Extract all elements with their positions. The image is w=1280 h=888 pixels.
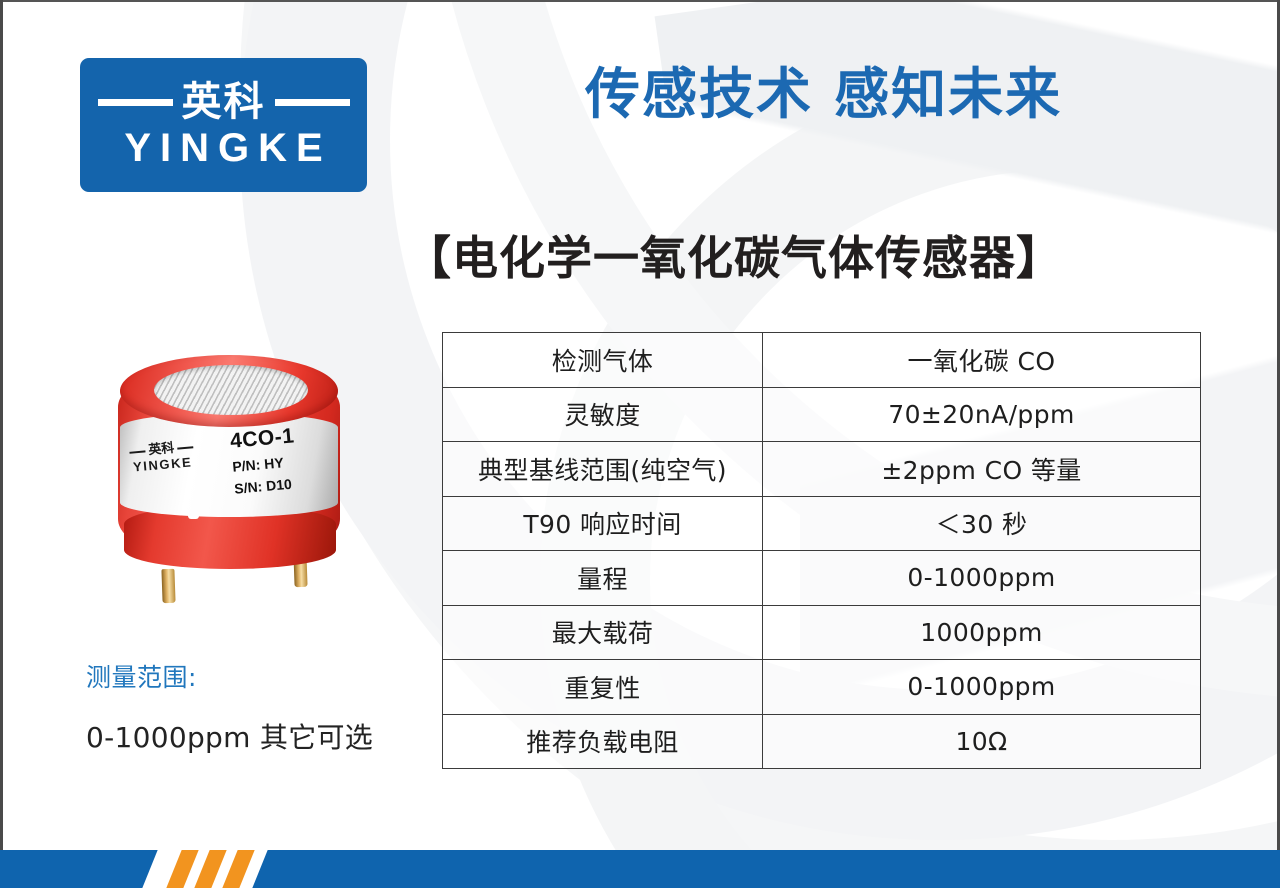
sensor-label-logo: 英科 YINGKE xyxy=(129,440,195,473)
sensor-label-band: 英科 YINGKE 4CO-1 P/N: HY S/N: D10 xyxy=(120,413,338,517)
spec-value: 70±20nA/ppm xyxy=(763,387,1201,442)
footer-stripe xyxy=(194,850,226,888)
footer-bar xyxy=(0,850,1280,888)
sensor-label-chinese-name: 英科 xyxy=(148,442,175,457)
spec-name: 检测气体 xyxy=(443,333,763,388)
table-row: 最大载荷 1000ppm xyxy=(443,605,1201,660)
spec-name: T90 响应时间 xyxy=(443,496,763,551)
brand-tagline: 传感技术 感知未来 xyxy=(585,64,1062,125)
measurement-range-value: 0-1000ppm 其它可选 xyxy=(86,716,426,756)
spec-value: ±2ppm CO 等量 xyxy=(763,442,1201,497)
specification-table-body: 检测气体 一氧化碳 CO 灵敏度 70±20nA/ppm 典型基线范围(纯空气)… xyxy=(443,333,1201,769)
table-row: 典型基线范围(纯空气) ±2ppm CO 等量 xyxy=(443,442,1201,497)
logo-english-name: YINGKE xyxy=(115,128,331,168)
page-border-left xyxy=(0,0,3,888)
table-row: 推荐负载电阻 10Ω xyxy=(443,714,1201,769)
table-row: 量程 0-1000ppm xyxy=(443,551,1201,606)
measurement-range-block: 测量范围: 0-1000ppm 其它可选 xyxy=(86,658,426,756)
footer-stripe xyxy=(166,850,198,888)
logo-chinese-name: 英科 xyxy=(182,82,266,122)
sensor-top-cap xyxy=(120,355,338,427)
logo-rule-right xyxy=(275,99,350,106)
spec-name: 量程 xyxy=(443,551,763,606)
spec-value: 0-1000ppm xyxy=(763,551,1201,606)
spec-value: ＜30 秒 xyxy=(763,496,1201,551)
product-image-co-sensor: 英科 YINGKE 4CO-1 P/N: HY S/N: D10 xyxy=(118,355,348,605)
specification-table: 检测气体 一氧化碳 CO 灵敏度 70±20nA/ppm 典型基线范围(纯空气)… xyxy=(442,332,1201,769)
sensor-gas-mesh xyxy=(154,365,308,415)
spec-value: 0-1000ppm xyxy=(763,660,1201,715)
sensor-model-text: 4CO-1 xyxy=(229,424,295,454)
page-title: 【电化学一氧化碳气体传感器】 xyxy=(405,222,1063,288)
table-row: 重复性 0-1000ppm xyxy=(443,660,1201,715)
logo-top-row: 英科 xyxy=(98,82,350,122)
spec-value: 一氧化碳 CO xyxy=(763,333,1201,388)
sensor-serial-number-text: S/N: D10 xyxy=(234,475,300,497)
table-row: 灵敏度 70±20nA/ppm xyxy=(443,387,1201,442)
spec-name: 灵敏度 xyxy=(443,387,763,442)
sensor-label-text-group: 4CO-1 P/N: HY S/N: D10 xyxy=(229,424,299,496)
spec-value: 1000ppm xyxy=(763,605,1201,660)
spec-name: 推荐负载电阻 xyxy=(443,714,763,769)
sensor-label-rule-left xyxy=(129,450,145,453)
brand-logo: 英科 YINGKE xyxy=(80,58,367,192)
sensor-part-number-text: P/N: HY xyxy=(232,453,298,475)
spec-name: 最大载荷 xyxy=(443,605,763,660)
sensor-label-rule-right xyxy=(177,446,193,449)
footer-stripe-panel xyxy=(142,850,267,888)
table-row: 检测气体 一氧化碳 CO xyxy=(443,333,1201,388)
measurement-range-label: 测量范围: xyxy=(86,658,426,694)
footer-stripe xyxy=(222,850,254,888)
slide-page: 英科 YINGKE 传感技术 感知未来 【电化学一氧化碳气体传感器】 英科 YI… xyxy=(0,0,1280,888)
spec-name: 典型基线范围(纯空气) xyxy=(443,442,763,497)
page-border-top xyxy=(0,0,1280,2)
sensor-label-english-name: YINGKE xyxy=(130,455,195,474)
logo-rule-left xyxy=(98,99,173,106)
table-row: T90 响应时间 ＜30 秒 xyxy=(443,496,1201,551)
sensor-pin-left xyxy=(161,569,175,603)
spec-value: 10Ω xyxy=(763,714,1201,769)
spec-name: 重复性 xyxy=(443,660,763,715)
